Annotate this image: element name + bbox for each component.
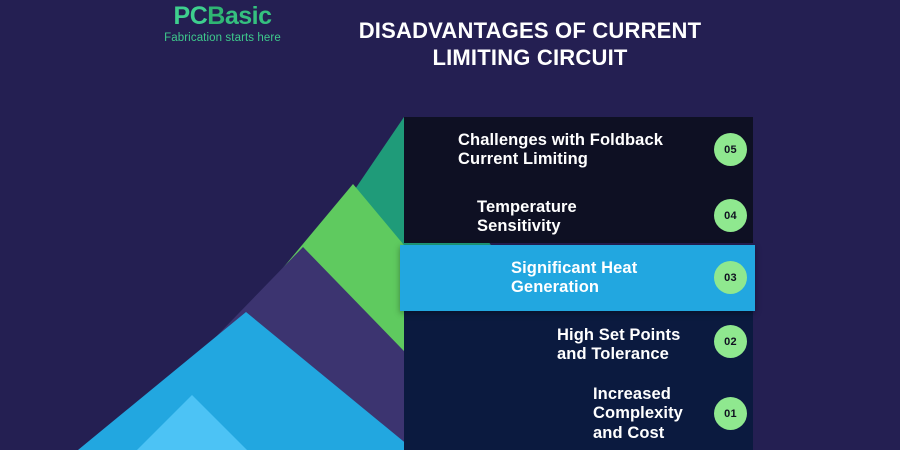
list-item-label: High Set Points and Tolerance <box>557 326 680 365</box>
list-item-label: Increased Complexity and Cost <box>593 385 683 443</box>
list-item-01[interactable]: Increased Complexity and Cost <box>593 378 683 450</box>
logo-part-b: B <box>207 2 225 30</box>
list-item-02[interactable]: High Set Points and Tolerance <box>557 312 680 378</box>
list-item-label: Temperature Sensitivity <box>477 198 577 237</box>
logo-wordmark: PCBasic <box>155 4 290 29</box>
list-item-badge-03: 03 <box>714 261 747 294</box>
logo-tagline: Fabrication starts here <box>155 32 290 44</box>
list-item-label: Significant Heat Generation <box>511 259 637 298</box>
list-item-label: Challenges with Foldback Current Limitin… <box>458 131 663 170</box>
list-item-05[interactable]: Challenges with Foldback Current Limitin… <box>458 117 663 183</box>
list-item-badge-01: 01 <box>714 397 747 430</box>
list-item-04[interactable]: Temperature Sensitivity <box>477 184 577 250</box>
infographic-canvas: PCBasic Fabrication starts here DISADVAN… <box>0 0 900 450</box>
list-item-badge-05: 05 <box>714 133 747 166</box>
page-title: DISADVANTAGES OF CURRENT LIMITING CIRCUI… <box>320 18 740 72</box>
logo-part-asic: asic <box>225 2 272 30</box>
list-item-badge-04: 04 <box>714 199 747 232</box>
brand-logo[interactable]: PCBasic Fabrication starts here <box>155 4 290 44</box>
logo-part-pc: PC <box>174 2 208 30</box>
list-item-03[interactable]: Significant Heat Generation <box>511 245 637 311</box>
list-item-badge-02: 02 <box>714 325 747 358</box>
